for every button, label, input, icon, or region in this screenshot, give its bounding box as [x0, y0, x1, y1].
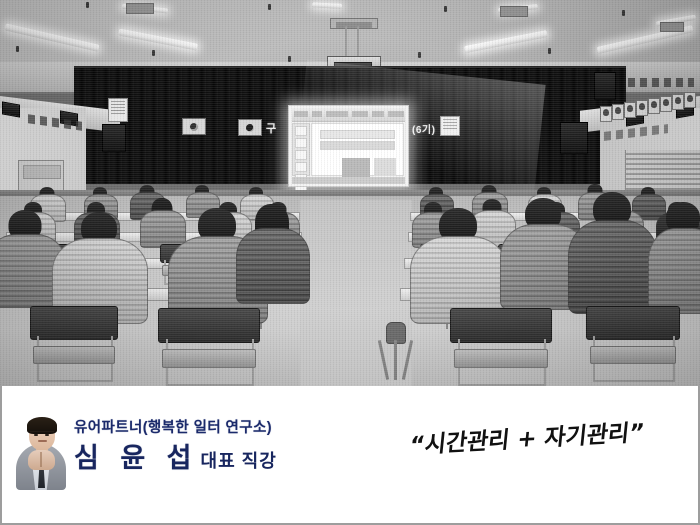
curtain-banner-right: (6기): [412, 121, 435, 136]
attendee: [236, 230, 308, 304]
chair: [30, 306, 116, 382]
curtain-notice-sheet: [440, 116, 460, 136]
ceiling-sensor: [16, 46, 19, 52]
slide-canvas: [311, 123, 404, 176]
wall-speaker: [560, 122, 588, 154]
tripod-equipment: [378, 322, 412, 380]
ceiling-sensor: [86, 2, 89, 8]
slide-app-toolbar: [292, 108, 405, 122]
organization-name: 유어파트너(행복한 일터 연구소): [74, 416, 272, 437]
attendee: [648, 230, 700, 314]
curtain-banner-left: 구: [266, 120, 277, 136]
chair: [586, 306, 678, 382]
presenter-role: 대표 직강: [201, 451, 277, 471]
chair: [158, 308, 258, 386]
slogan-text: “시간관리 + 자기관리”: [408, 413, 646, 460]
ceiling-vent: [500, 6, 528, 17]
slide-image: [342, 158, 370, 178]
caption-band: 유어파트너(행복한 일터 연구소) 심 윤 섭대표 직강 “시간관리 + 자기관…: [0, 386, 700, 525]
presenter-name: 심 윤 섭: [74, 443, 199, 473]
ceiling-sensor: [288, 56, 291, 62]
ceiling-sensor: [444, 6, 447, 12]
notice-sheet: [108, 98, 128, 122]
ceiling-vent: [660, 22, 684, 32]
presenter-headshot: [14, 412, 68, 490]
ceiling-vent: [126, 3, 154, 14]
right-wall-lettering: [628, 78, 694, 87]
slide-thumbnail-pane: [292, 123, 310, 176]
ceiling-sensor: [268, 4, 271, 10]
lecture-hall-photo: 구 (6기): [0, 0, 700, 386]
eye: [34, 434, 38, 436]
slide-image: [374, 158, 396, 176]
korean-flag-emblem: [182, 118, 206, 135]
ceiling-sensor: [548, 48, 551, 54]
eyeglasses: [30, 431, 54, 432]
poster-root: 구 (6기): [0, 0, 700, 525]
projector-mast: [345, 26, 347, 60]
attendee: [568, 222, 656, 314]
mouth: [38, 440, 47, 442]
ceiling-sensor: [622, 10, 625, 16]
portrait-row: [600, 92, 698, 126]
wall-speaker: [102, 124, 126, 152]
ceiling-sensor: [418, 52, 421, 58]
organization-emblem: [238, 119, 262, 136]
projector-mast: [357, 26, 359, 60]
ceiling-sensor: [152, 50, 155, 56]
projector-mount-plate: [336, 22, 372, 28]
presenter-line: 심 윤 섭대표 직강: [74, 436, 277, 475]
eye: [45, 434, 49, 436]
chair: [450, 308, 550, 386]
clasped-hands: [28, 450, 55, 470]
projection-screen: [288, 105, 409, 187]
slide-status-bar: [292, 177, 405, 184]
